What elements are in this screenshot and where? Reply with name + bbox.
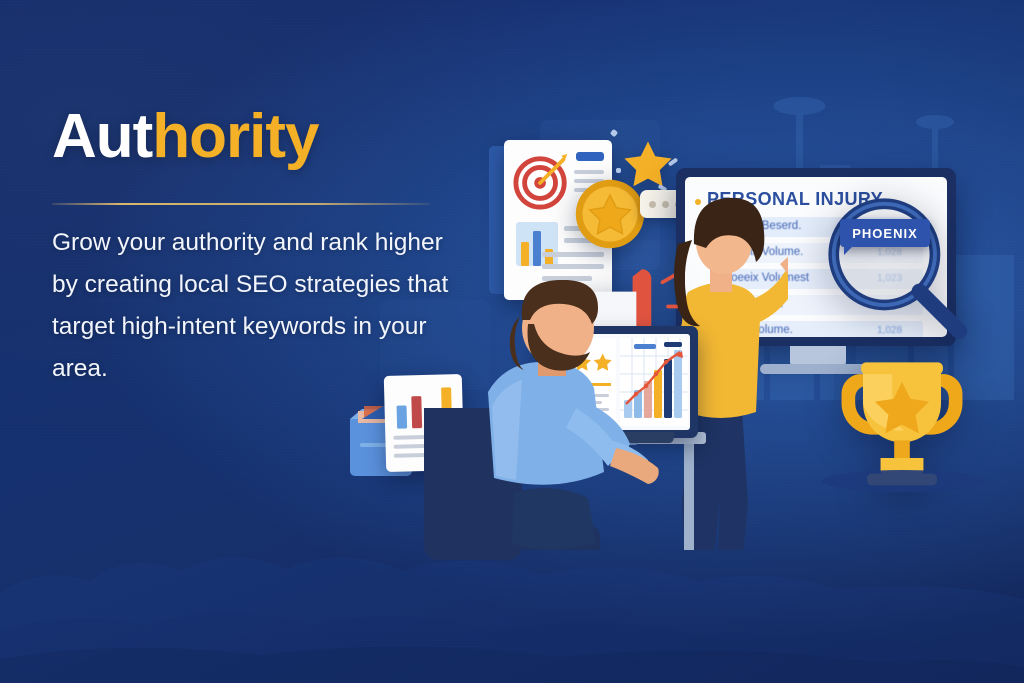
report-bar xyxy=(533,231,541,266)
subcopy-text: Grow your authority and rank higher by c… xyxy=(52,222,472,391)
trophy-pedestal xyxy=(822,470,984,492)
target-dartboard-icon xyxy=(513,152,571,210)
report-bar xyxy=(397,406,408,429)
hero-illustration: Authority Grow your authority and rank h… xyxy=(0,0,1024,683)
page-title-part-white: Aut xyxy=(52,102,152,171)
magnifier-icon xyxy=(824,196,970,342)
gold-star xyxy=(622,138,674,190)
report-bar xyxy=(521,242,529,266)
sparkle xyxy=(616,168,621,173)
page-title: Authority xyxy=(52,106,319,168)
person-seated-man xyxy=(410,280,670,580)
badge-tail xyxy=(844,246,853,255)
magnifier-badge: PHOENIX xyxy=(840,219,930,247)
magnifier-badge-label: PHOENIX xyxy=(840,226,930,241)
title-divider xyxy=(52,203,430,205)
page-title-part-gold: hority xyxy=(152,102,318,171)
report-card-accent xyxy=(576,152,604,161)
desk-leg-right xyxy=(684,444,694,550)
